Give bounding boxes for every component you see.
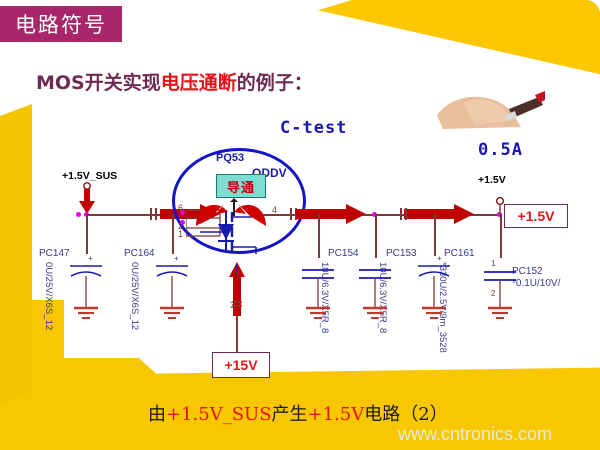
caption-part-5: 电路（2） xyxy=(364,404,447,425)
svg-text:+: + xyxy=(174,254,179,263)
net-label-output: +1.5V xyxy=(478,174,506,186)
figure-caption: 由+1.5V_SUS产生+1.5V电路（2） xyxy=(148,400,448,426)
slide-canvas: 电路符号 MOS开关实现电压通断的例子： C-test 0.5A +1.5V_S… xyxy=(0,0,600,450)
gate-voltage-label: +15V xyxy=(224,357,257,373)
cap-ref-pc147: PC147 xyxy=(39,248,70,259)
capacitor-pc154-icon xyxy=(300,252,338,328)
capacitor-pc147-icon: + xyxy=(68,252,106,328)
decor-yellow-left-bar xyxy=(0,104,32,404)
subtitle: MOS开关实现电压通断的例子： xyxy=(36,68,313,95)
ferrite-bead-3-icon xyxy=(396,206,412,222)
junction-node-pin2 xyxy=(180,220,185,225)
mosfet-state-tag: 导通 xyxy=(216,174,266,198)
current-label: 0.5A xyxy=(478,140,523,160)
wire-pc164 xyxy=(172,214,174,254)
mosfet-pin-1: 1 xyxy=(178,229,183,239)
svg-text:2: 2 xyxy=(491,289,496,298)
hand-with-pen-image xyxy=(435,85,545,131)
current-flow-arrow-3-icon xyxy=(404,203,474,225)
output-voltage-box: +1.5V xyxy=(504,204,568,228)
caption-part-4: +1.5V xyxy=(308,404,365,425)
mosfet-state-label: 导通 xyxy=(227,177,255,196)
cap-value-pc164: 0U/25V/X6S_12 xyxy=(129,262,140,330)
svg-text:+: + xyxy=(88,254,93,263)
subtitle-part-2: 电压通断 xyxy=(161,72,237,94)
current-flow-arrow-2-icon xyxy=(296,203,366,225)
capacitor-pc152-icon: 1 2 xyxy=(482,252,520,328)
mosfet-pin-4: 4 xyxy=(272,205,277,215)
site-watermark: www.cntronics.com xyxy=(398,424,552,445)
wire-pc161 xyxy=(434,214,436,256)
capacitor-pc153-icon xyxy=(357,252,395,328)
input-supply-arrow-icon xyxy=(78,182,96,216)
output-voltage-label: +1.5V xyxy=(518,208,555,224)
page-title-tag: 电路符号 xyxy=(0,6,122,42)
wire-pc147 xyxy=(86,214,88,254)
page-title: 电路符号 xyxy=(15,9,107,39)
c-test-label: C-test xyxy=(280,118,347,138)
junction-node-a xyxy=(76,212,81,217)
caption-part-1: 由 xyxy=(148,404,166,425)
svg-text:1: 1 xyxy=(491,259,496,268)
subtitle-part-3: 的例子： xyxy=(237,72,313,94)
capacitor-pc164-icon: + xyxy=(154,252,192,328)
subtitle-part-1: MOS开关实现 xyxy=(36,72,161,94)
caption-part-2: +1.5V_SUS xyxy=(166,404,272,425)
svg-text:+: + xyxy=(437,254,442,263)
cap-ref-pc164: PC164 xyxy=(124,248,155,259)
mosfet-source-lead-icon xyxy=(236,262,264,290)
gate-voltage-box: +15V xyxy=(212,352,270,378)
conduction-swoosh-arrows-icon xyxy=(190,196,274,230)
cap-value-pc147: 0U/25V/X6S_12 xyxy=(43,262,54,330)
mosfet-ref-label: PQ53 xyxy=(216,152,244,164)
net-label-input: +1.5V_SUS xyxy=(62,170,117,182)
caption-part-3: 产生 xyxy=(272,404,308,425)
capacitor-pc161-icon: + xyxy=(416,252,454,328)
junction-node-pin6 xyxy=(180,210,185,215)
